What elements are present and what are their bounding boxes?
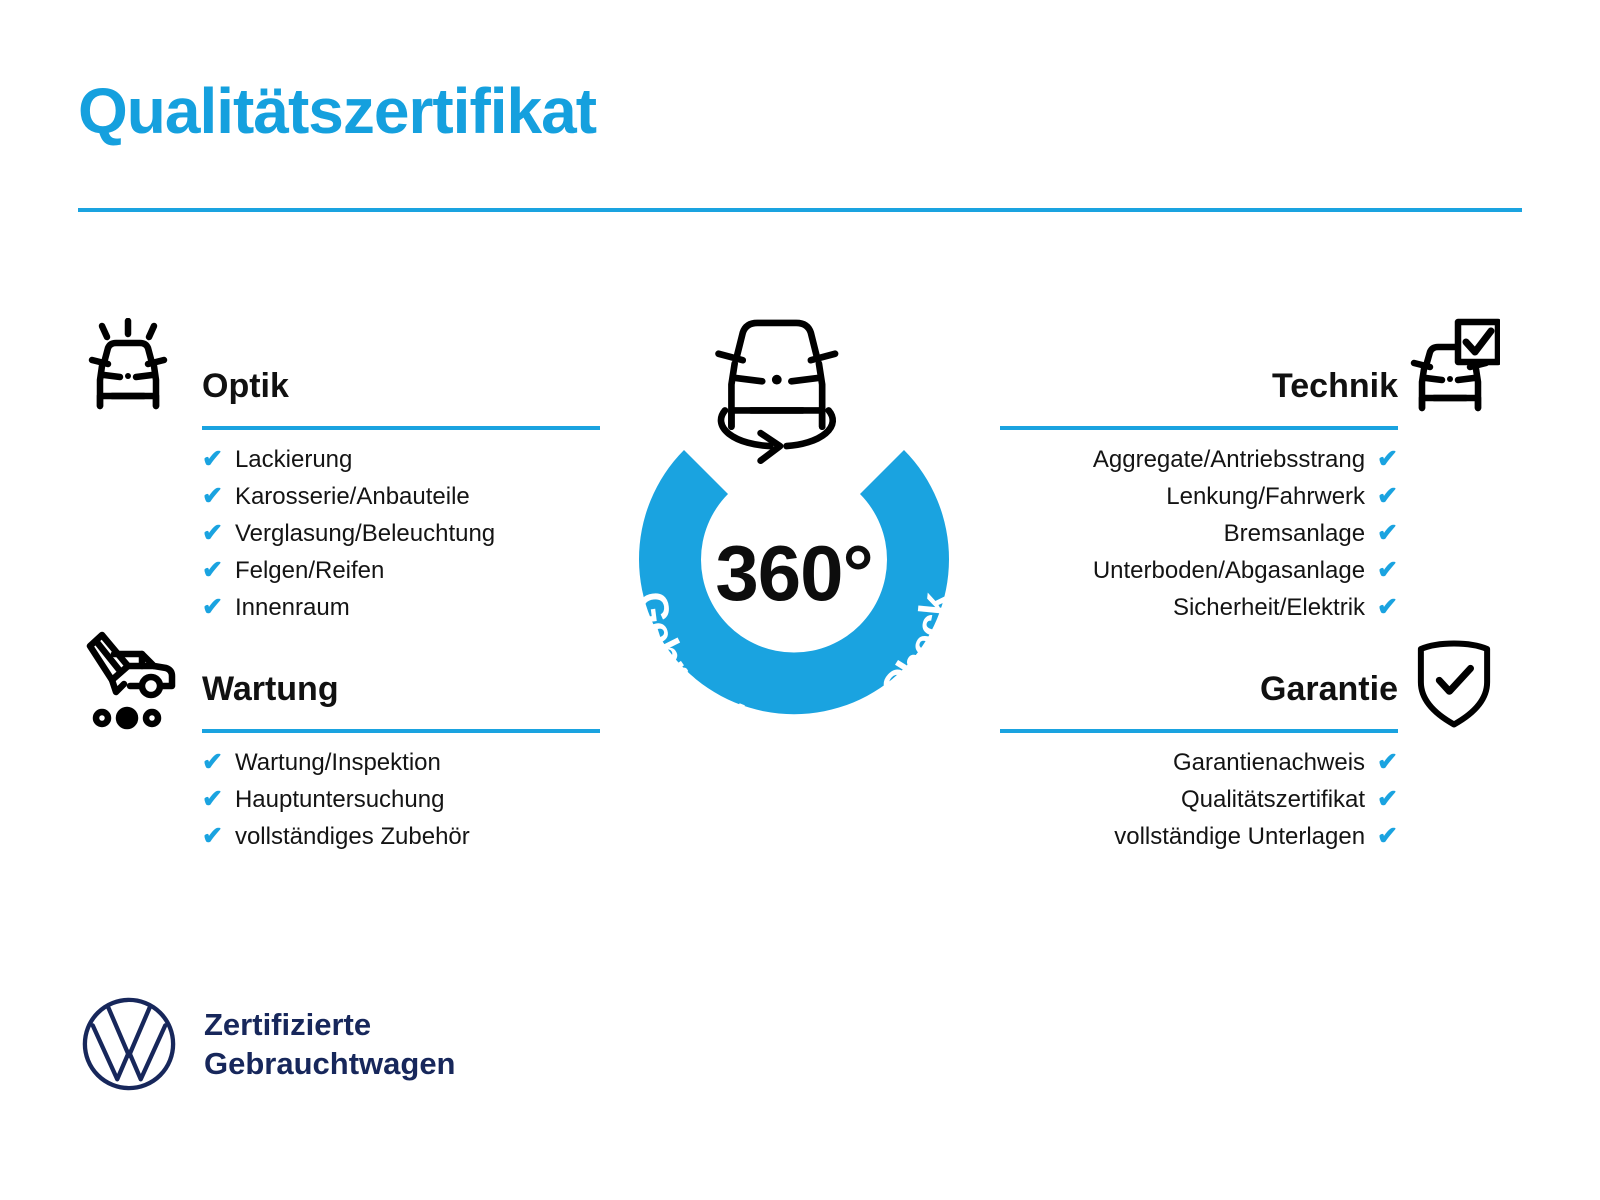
section-technik-title: Technik xyxy=(1000,364,1398,408)
list-item: Garantienachweis✔ xyxy=(1000,744,1398,781)
list-item: ✔Hauptuntersuchung xyxy=(202,781,600,818)
list-item: ✔Karosserie/Anbauteile xyxy=(202,478,600,515)
list-item-label: vollständige Unterlagen xyxy=(1114,818,1365,855)
section-technik-header: Technik xyxy=(1000,364,1398,430)
list-item-label: Verglasung/Beleuchtung xyxy=(235,515,495,552)
section-wartung: Wartung ✔Wartung/Inspektion ✔Hauptunters… xyxy=(202,667,600,855)
list-item-label: Aggregate/Antriebsstrang xyxy=(1093,441,1365,478)
page-title: Qualitätszertifikat xyxy=(78,78,596,145)
section-technik-list: Aggregate/Antriebsstrang✔ Lenkung/Fahrwe… xyxy=(1000,441,1398,626)
section-garantie: Garantie Garantienachweis✔ Qualitätszert… xyxy=(1000,667,1398,855)
section-wartung-title: Wartung xyxy=(202,667,600,711)
footer-line-1: Zertifizierte xyxy=(204,1005,456,1044)
list-item-label: Wartung/Inspektion xyxy=(235,744,441,781)
list-item: ✔Lackierung xyxy=(202,441,600,478)
badge-360-gebrauchtwagen-check: Gebrauchtwagen-Check 360° xyxy=(584,300,1004,780)
check-icon: ✔ xyxy=(202,781,223,818)
car-front-rotation-icon xyxy=(718,323,835,461)
list-item-label: Garantienachweis xyxy=(1173,744,1365,781)
list-item: ✔vollständiges Zubehör xyxy=(202,818,600,855)
check-icon: ✔ xyxy=(1377,441,1398,478)
list-item-label: Innenraum xyxy=(235,589,350,626)
list-item-label: Karosserie/Anbauteile xyxy=(235,478,470,515)
badge-number: 360° xyxy=(584,528,1004,619)
list-item: ✔Verglasung/Beleuchtung xyxy=(202,515,600,552)
list-item-label: Hauptuntersuchung xyxy=(235,781,444,818)
list-item: Bremsanlage✔ xyxy=(1000,515,1398,552)
list-item: Lenkung/Fahrwerk✔ xyxy=(1000,478,1398,515)
list-item: Aggregate/Antriebsstrang✔ xyxy=(1000,441,1398,478)
section-wartung-list: ✔Wartung/Inspektion ✔Hauptuntersuchung ✔… xyxy=(202,744,600,855)
check-icon: ✔ xyxy=(202,818,223,855)
check-icon: ✔ xyxy=(1377,781,1398,818)
check-icon: ✔ xyxy=(202,589,223,626)
section-optik-header: Optik xyxy=(202,364,600,430)
check-icon: ✔ xyxy=(202,552,223,589)
list-item: ✔Innenraum xyxy=(202,589,600,626)
section-optik-divider xyxy=(202,426,600,430)
check-icon: ✔ xyxy=(1377,552,1398,589)
list-item-label: vollständiges Zubehör xyxy=(235,818,470,855)
list-item-label: Felgen/Reifen xyxy=(235,552,384,589)
pen-car-service-icon xyxy=(78,630,178,730)
volkswagen-logo xyxy=(80,995,178,1093)
section-wartung-divider xyxy=(202,729,600,733)
check-icon: ✔ xyxy=(202,515,223,552)
check-icon: ✔ xyxy=(1377,515,1398,552)
list-item: Unterboden/Abgasanlage✔ xyxy=(1000,552,1398,589)
car-front-checkbox-icon xyxy=(1400,318,1500,418)
section-technik-divider xyxy=(1000,426,1398,430)
list-item-label: Lackierung xyxy=(235,441,352,478)
list-item: ✔Felgen/Reifen xyxy=(202,552,600,589)
list-item: Qualitätszertifikat✔ xyxy=(1000,781,1398,818)
list-item-label: Sicherheit/Elektrik xyxy=(1173,589,1365,626)
list-item-label: Bremsanlage xyxy=(1224,515,1365,552)
section-garantie-divider xyxy=(1000,729,1398,733)
section-optik-list: ✔Lackierung ✔Karosserie/Anbauteile ✔Verg… xyxy=(202,441,600,626)
section-wartung-header: Wartung xyxy=(202,667,600,733)
check-icon: ✔ xyxy=(1377,478,1398,515)
section-optik-title: Optik xyxy=(202,364,600,408)
section-garantie-header: Garantie xyxy=(1000,667,1398,733)
section-garantie-title: Garantie xyxy=(1000,667,1398,711)
check-icon: ✔ xyxy=(202,478,223,515)
list-item: Sicherheit/Elektrik✔ xyxy=(1000,589,1398,626)
car-front-shine-icon xyxy=(78,318,178,418)
check-icon: ✔ xyxy=(1377,744,1398,781)
list-item: vollständige Unterlagen✔ xyxy=(1000,818,1398,855)
list-item: ✔Wartung/Inspektion xyxy=(202,744,600,781)
list-item-label: Unterboden/Abgasanlage xyxy=(1093,552,1365,589)
list-item-label: Qualitätszertifikat xyxy=(1181,781,1365,818)
section-optik: Optik ✔Lackierung ✔Karosserie/Anbauteile… xyxy=(202,364,600,626)
footer-brand-lockup: Zertifizierte Gebrauchtwagen xyxy=(80,995,456,1093)
header-divider xyxy=(78,208,1522,212)
shield-check-icon xyxy=(1408,638,1508,738)
check-icon: ✔ xyxy=(1377,818,1398,855)
footer-brand-text: Zertifizierte Gebrauchtwagen xyxy=(204,1005,456,1083)
check-icon: ✔ xyxy=(202,441,223,478)
check-icon: ✔ xyxy=(1377,589,1398,626)
check-icon: ✔ xyxy=(202,744,223,781)
section-garantie-list: Garantienachweis✔ Qualitätszertifikat✔ v… xyxy=(1000,744,1398,855)
list-item-label: Lenkung/Fahrwerk xyxy=(1166,478,1365,515)
section-technik: Technik Aggregate/Antriebsstrang✔ Lenkun… xyxy=(1000,364,1398,626)
footer-line-2: Gebrauchtwagen xyxy=(204,1044,456,1083)
